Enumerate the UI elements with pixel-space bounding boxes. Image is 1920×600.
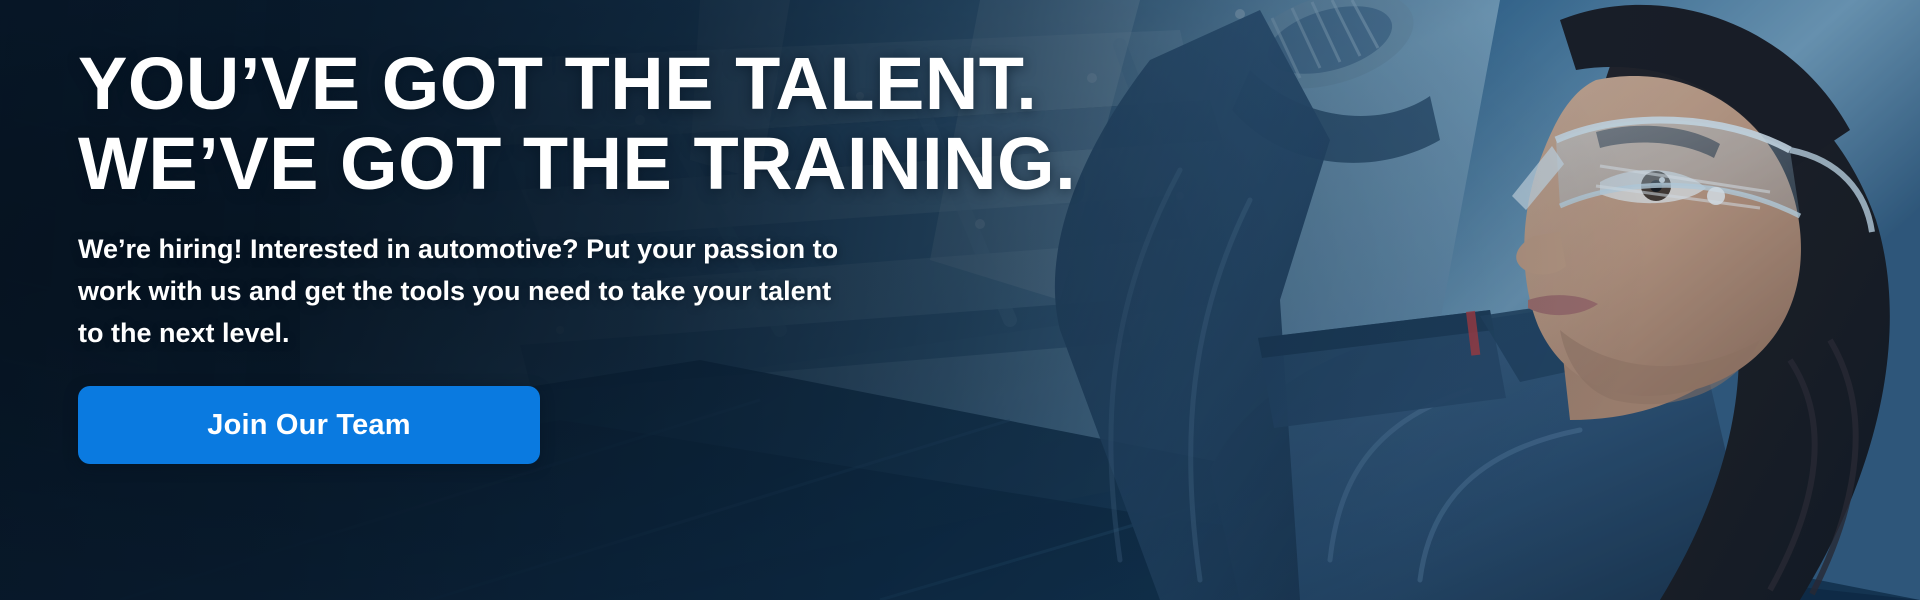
page-title: YOU’VE GOT THE TALENT. WE’VE GOT THE TRA… [78,44,1258,204]
hero-subcopy: We’re hiring! Interested in automotive? … [78,228,978,354]
subcopy-line-3: to the next level. [78,312,978,354]
headline-line-1: YOU’VE GOT THE TALENT. [78,44,1258,124]
hero-content: YOU’VE GOT THE TALENT. WE’VE GOT THE TRA… [78,44,1258,464]
join-our-team-button[interactable]: Join Our Team [78,386,540,464]
subcopy-line-2: work with us and get the tools you need … [78,270,978,312]
careers-hero-banner: YOU’VE GOT THE TALENT. WE’VE GOT THE TRA… [0,0,1920,600]
subcopy-line-1: We’re hiring! Interested in automotive? … [78,228,978,270]
headline-line-2: WE’VE GOT THE TRAINING. [78,124,1258,204]
